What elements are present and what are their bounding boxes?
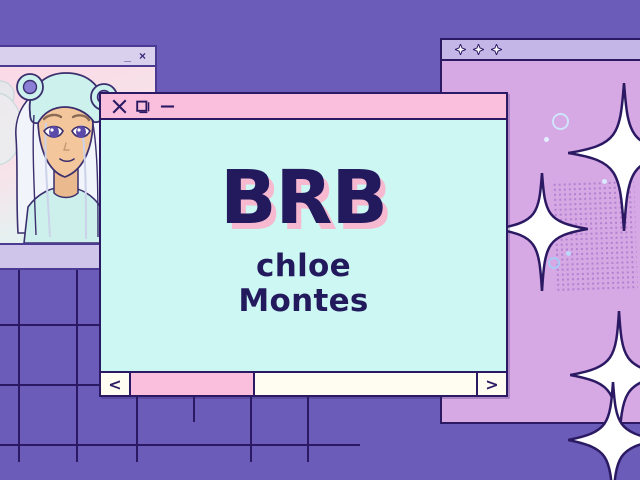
brb-window[interactable]: BRB chloe Montes < > [99,92,508,397]
brb-window-body: BRB chloe Montes [101,120,506,371]
diamond-sparkle-icon [491,44,502,55]
desktop-canvas: _ × [0,0,640,480]
name-text: chloe Montes [238,249,368,319]
four-point-star-icon [496,173,588,291]
four-point-star-icon [568,382,640,480]
scrollbar-track[interactable] [131,373,476,395]
name-first: chloe [238,249,368,284]
minimize-icon[interactable] [160,99,175,114]
scroll-right-button[interactable]: > [476,373,506,395]
diamond-sparkle-icon [455,44,466,55]
minimize-icon[interactable]: _ [124,50,131,62]
horizontal-scrollbar[interactable]: < > [101,371,506,395]
scrollbar-thumb[interactable] [131,373,255,395]
close-icon[interactable] [112,99,127,114]
restore-window-icon[interactable] [136,99,151,114]
dot-icon [544,137,549,142]
headline-text: BRB [220,164,387,234]
diamond-sparkle-icon [473,44,484,55]
sparkle-window-titlebar[interactable] [442,40,640,61]
brb-window-titlebar[interactable] [101,94,506,120]
ring-icon [552,113,569,130]
name-last: Montes [238,284,368,319]
close-icon[interactable]: × [139,50,146,62]
portrait-window-titlebar[interactable]: _ × [0,47,155,67]
scroll-left-button[interactable]: < [101,373,131,395]
